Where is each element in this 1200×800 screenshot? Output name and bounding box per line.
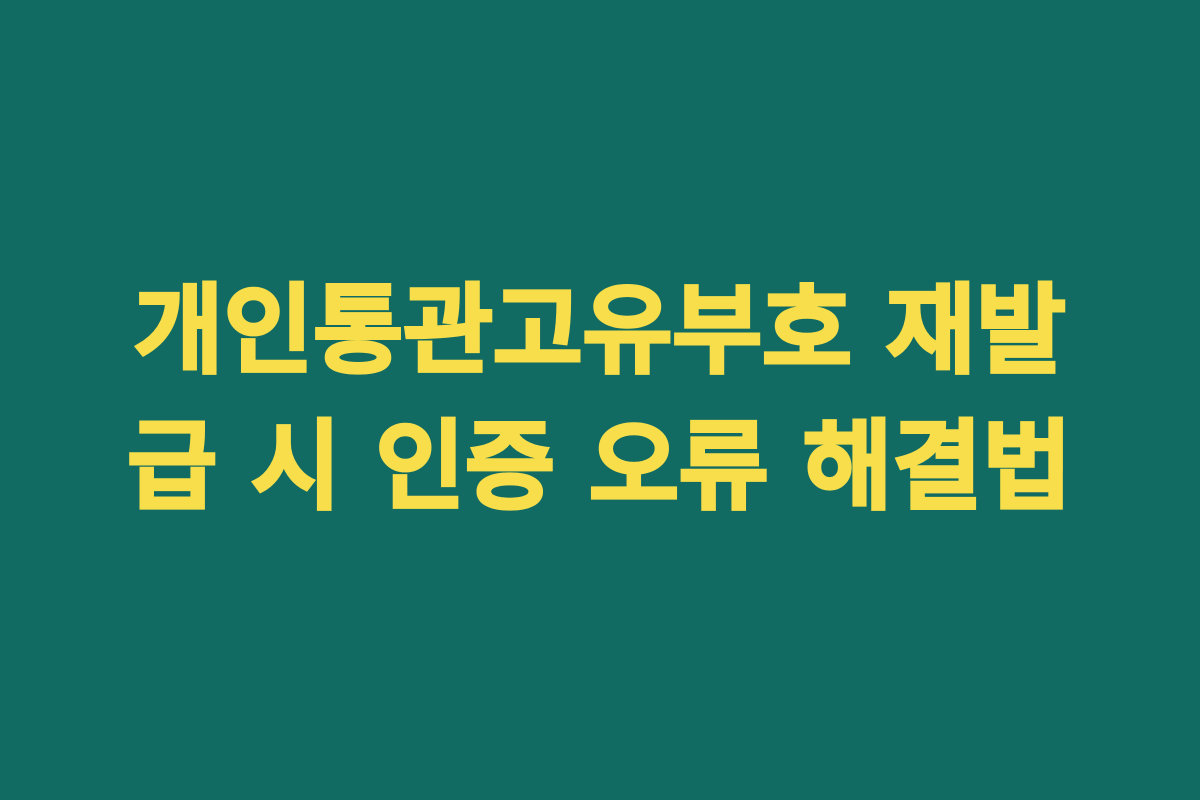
title-line-1: 개인통관고유부호 재발 (95, 263, 1105, 399)
page-title: 개인통관고유부호 재발 급 시 인증 오류 해결법 (95, 263, 1105, 535)
title-line-2: 급 시 인증 오류 해결법 (95, 399, 1105, 535)
title-banner: 개인통관고유부호 재발 급 시 인증 오류 해결법 (0, 0, 1200, 800)
